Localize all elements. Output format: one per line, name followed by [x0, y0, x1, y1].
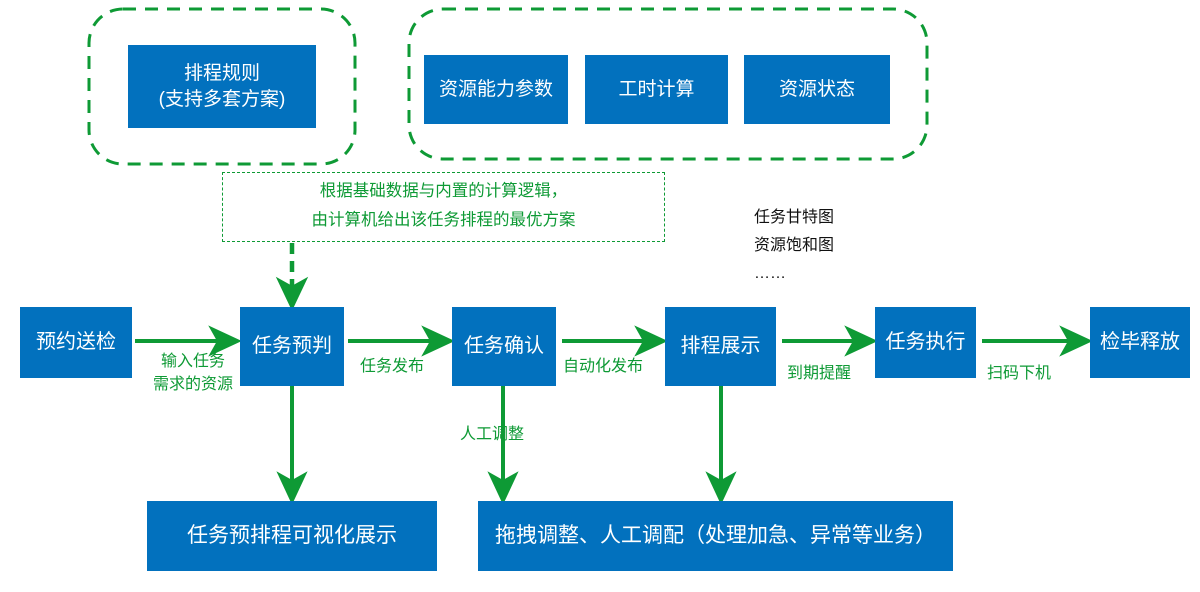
node-schedule-display-label: 排程展示: [681, 333, 761, 360]
node-task-confirm[interactable]: 任务确认: [452, 307, 556, 386]
node-schedule-display[interactable]: 排程展示: [665, 307, 776, 386]
box-scheduling-rules[interactable]: 排程规则 (支持多套方案): [128, 45, 316, 128]
node-task-confirm-label: 任务确认: [464, 333, 544, 360]
box-scheduling-rules-line2: (支持多套方案): [159, 87, 286, 113]
node-task-prejudge[interactable]: 任务预判: [240, 307, 344, 386]
annotation-compute-logic: 根据基础数据与内置的计算逻辑， 由计算机给出该任务排程的最优方案: [222, 172, 665, 242]
node-task-prejudge-label: 任务预判: [252, 333, 332, 360]
edge-label-due-remind: 到期提醒: [787, 362, 851, 385]
edge-label-input-resource-line1: 输入任务: [138, 350, 248, 373]
sidenote-line2: 资源饱和图: [754, 232, 834, 260]
node-reservation-label: 预约送检: [36, 329, 116, 356]
sidenote-outputs: 任务甘特图 资源饱和图 ……: [754, 204, 834, 288]
box-worktime-calc[interactable]: 工时计算: [585, 55, 728, 124]
output-preschedule-visual[interactable]: 任务预排程可视化展示: [147, 501, 437, 571]
annotation-line1: 根据基础数据与内置的计算逻辑，: [223, 177, 664, 206]
edge-label-input-resource-line2: 需求的资源: [138, 373, 248, 396]
box-resource-status-label: 资源状态: [779, 77, 855, 103]
box-resource-capability[interactable]: 资源能力参数: [424, 55, 568, 124]
edge-label-input-resource: 输入任务 需求的资源: [138, 350, 248, 396]
node-release[interactable]: 检毕释放: [1090, 307, 1190, 378]
edge-label-scan-offline: 扫码下机: [987, 362, 1051, 385]
box-worktime-calc-label: 工时计算: [618, 77, 694, 103]
edge-label-task-publish: 任务发布: [360, 355, 424, 378]
box-resource-status[interactable]: 资源状态: [744, 55, 890, 124]
edge-label-manual-adjust: 人工调整: [460, 423, 524, 446]
box-resource-capability-label: 资源能力参数: [439, 77, 553, 103]
output-manual-dispatch-label: 拖拽调整、人工调配（处理加急、异常等业务）: [495, 522, 936, 550]
annotation-line2: 由计算机给出该任务排程的最优方案: [223, 206, 664, 235]
sidenote-line1: 任务甘特图: [754, 204, 834, 232]
node-task-execute[interactable]: 任务执行: [875, 307, 976, 378]
output-manual-dispatch[interactable]: 拖拽调整、人工调配（处理加急、异常等业务）: [478, 501, 953, 571]
flowchart-canvas: 排程规则 (支持多套方案) 资源能力参数 工时计算 资源状态 根据基础数据与内置…: [0, 0, 1200, 592]
node-task-execute-label: 任务执行: [886, 329, 966, 356]
box-scheduling-rules-line1: 排程规则: [184, 61, 260, 87]
edge-label-auto-publish: 自动化发布: [563, 355, 643, 378]
sidenote-line3: ……: [754, 260, 834, 288]
node-reservation[interactable]: 预约送检: [20, 307, 132, 378]
output-preschedule-visual-label: 任务预排程可视化展示: [187, 522, 397, 550]
node-release-label: 检毕释放: [1100, 329, 1180, 356]
